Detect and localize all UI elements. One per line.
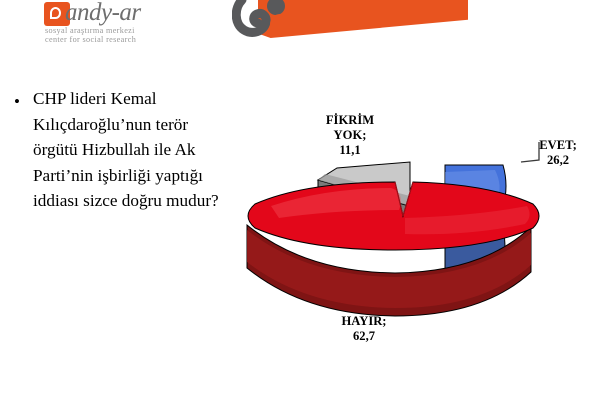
bullet-glyph: • [14,93,20,110]
header-banner-logo-icon [232,0,322,42]
andy-ar-tagline-tr: sosyal araştırma merkezi [45,26,135,35]
pie-label-hayir: HAYIR; 62,7 [312,314,416,344]
pie-label-fikrim-yok-line2: YOK; [296,128,404,143]
question-text: CHP lideri Kemal Kılıçdaroğlu’nun terör … [33,86,235,214]
slide-header: andy-ar sosyal araştırma merkezi center … [0,0,600,48]
slide-canvas: andy-ar sosyal araştırma merkezi center … [0,0,600,420]
pie-label-evet: EVET; 26,2 [519,138,597,168]
pie-label-fikrim-yok-value: 11,1 [296,143,404,158]
andy-ar-logo: andy-ar sosyal araştırma merkezi center … [44,2,204,46]
pie-label-fikrim-yok-line1: FİKRİM [296,113,404,128]
andy-ar-wordmark: andy-ar [65,0,141,27]
question-block: • CHP lideri Kemal Kılıçdaroğlu’nun terö… [10,86,235,214]
pie-label-evet-line1: EVET; [519,138,597,153]
pie-label-hayir-value: 62,7 [312,329,416,344]
pie-label-fikrim-yok: FİKRİM YOK; 11,1 [296,113,404,158]
pie-label-evet-value: 26,2 [519,153,597,168]
pie-label-hayir-line1: HAYIR; [312,314,416,329]
andy-ar-tagline-en: center for social research [45,35,136,44]
